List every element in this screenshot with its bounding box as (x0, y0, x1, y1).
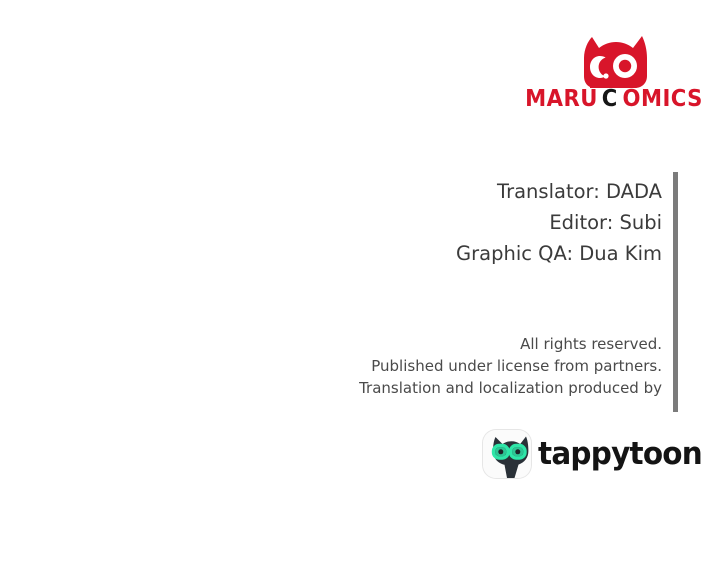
rights-line-license: Published under license from partners. (260, 355, 662, 377)
credit-translator: Translator: DADA (300, 176, 662, 207)
platform-logo: tappytoon (483, 429, 675, 481)
tappytoon-text: tappytoon (538, 439, 702, 470)
rights-line-reserved: All rights reserved. (260, 333, 662, 355)
publisher-wordmark: MARU C OMICS (548, 86, 680, 112)
rights-notice-block: All rights reserved. Published under lic… (260, 333, 662, 399)
publisher-logo: MARU C OMICS (548, 36, 680, 116)
wordmark-c: C (602, 88, 618, 111)
credit-graphic-qa: Graphic QA: Dua Kim (300, 238, 662, 269)
credit-editor: Editor: Subi (300, 207, 662, 238)
cat-with-glasses-icon (483, 430, 531, 478)
vertical-rule (673, 172, 678, 412)
wordmark-omics: OMICS (622, 88, 702, 111)
wordmark-maru: MARU (525, 88, 598, 111)
platform-wordmark: tappytoon (538, 434, 675, 474)
owl-face-mark (578, 36, 652, 90)
credits-block: Translator: DADA Editor: Subi Graphic QA… (300, 176, 662, 269)
rights-line-producer: Translation and localization produced by (260, 377, 662, 399)
